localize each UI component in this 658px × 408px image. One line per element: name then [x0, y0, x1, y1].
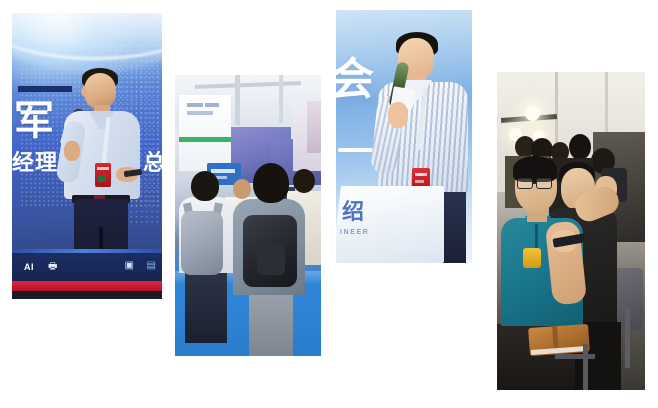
speaker-left-hand — [64, 141, 80, 161]
stage-front-red-band — [12, 281, 162, 291]
eyeglasses-right-lens-icon — [536, 178, 552, 189]
backdrop-headline: 军 — [14, 101, 56, 141]
visitor-center-backpack-pocket — [257, 243, 285, 275]
podium-speaker-badge-line-1 — [415, 173, 427, 176]
audience-head-back-4 — [569, 134, 591, 160]
panel-icon: ▤ — [147, 260, 156, 271]
speaker-ear — [81, 87, 87, 96]
speaker-badge-line — [97, 167, 109, 170]
photo-speaker-podium[interactable]: 会 绍 INEER — [336, 10, 472, 263]
podium-logo-subtitle: INEER — [340, 229, 369, 236]
stage-floor — [12, 291, 162, 299]
backdrop-subline-right: 总 — [143, 153, 162, 175]
visitor-center-head — [253, 163, 289, 203]
booth-left-text-2 — [205, 103, 219, 107]
backdrop-dash — [338, 148, 376, 152]
attendee-front-polo-logo — [523, 248, 541, 268]
photo-collage: 军 经理兼 总 媒体 AI 🖶 ▣ ▤ — [0, 0, 658, 408]
photo-speaker-blue-stage[interactable]: 军 经理兼 总 媒体 AI 🖶 ▣ ▤ — [12, 13, 162, 299]
backdrop-globe-outline — [12, 13, 162, 60]
visitor-center-legs — [249, 291, 293, 356]
booth-sign-line-1 — [211, 169, 235, 173]
podium-speaker-hand — [388, 102, 408, 128]
booth-left-text-3 — [187, 111, 213, 115]
ceiling-column-right — [279, 75, 283, 123]
printer-icon: 🖶 — [48, 262, 57, 272]
stage-light-icon — [525, 106, 540, 121]
visitor-left-legs — [185, 273, 227, 343]
eyeglasses-left-lens-icon — [517, 178, 533, 189]
photo-exhibition-aisle[interactable] — [175, 75, 321, 356]
speaker-head — [84, 73, 116, 109]
podium-speaker-badge-line-2 — [415, 180, 424, 183]
visitor-right-head — [293, 169, 315, 193]
booth-left-green-stripe — [179, 137, 231, 142]
chair-front-bar — [555, 354, 595, 359]
podium-logo: 绍 — [342, 202, 364, 224]
eyeglasses-bridge-icon — [533, 182, 537, 184]
chair-right-leg — [625, 308, 630, 368]
chair-front-leg — [583, 344, 588, 390]
attendee-front-placket — [535, 224, 538, 248]
visitor-background-head — [233, 179, 251, 199]
speaker-badge-tag — [98, 175, 106, 182]
backdrop-character: 会 — [336, 58, 378, 102]
booth-left-text-1 — [187, 103, 203, 107]
ceiling-column — [235, 75, 240, 125]
visitor-left-backpack — [181, 211, 223, 275]
backdrop-rule — [18, 86, 72, 92]
ai-label: AI — [24, 262, 34, 272]
photo-seated-audience[interactable] — [497, 72, 645, 390]
booth-right-accent — [307, 101, 321, 153]
visitor-left-head — [191, 171, 219, 201]
stage-band-content: AI 🖶 ▣ ▤ — [12, 253, 162, 281]
trash-icon: ▣ — [125, 260, 134, 271]
